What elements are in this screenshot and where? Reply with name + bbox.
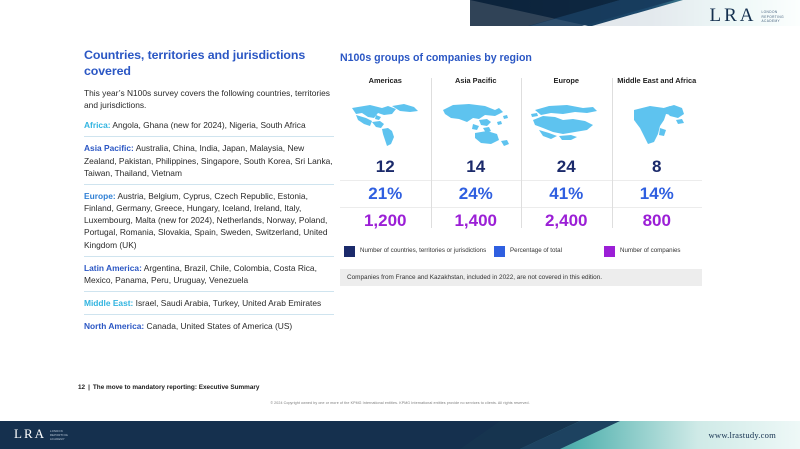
footer-website-url[interactable]: www.lrastudy.com	[709, 430, 776, 440]
region-label: Asia Pacific:	[84, 143, 134, 153]
value-text: 1,400	[431, 210, 522, 233]
header-logo: LRA LONDON REPORTING ACADEMY	[710, 6, 785, 25]
value-text: 21%	[340, 183, 431, 206]
column-header: Americas	[340, 76, 431, 96]
value-count: 12	[340, 154, 431, 180]
legend-label: Number of companies	[620, 247, 681, 255]
region-label: Latin America:	[84, 263, 142, 273]
value-text: 14%	[612, 183, 703, 206]
value-text: 24	[521, 156, 612, 179]
value-text: 24%	[431, 183, 522, 206]
value-companies: 1,200	[340, 207, 431, 234]
value-percentage: 24%	[431, 180, 522, 207]
legend-swatch-blue	[494, 246, 505, 257]
region-countries: Israel, Saudi Arabia, Turkey, United Ara…	[136, 298, 322, 308]
value-percentage: 21%	[340, 180, 431, 207]
region-label: North America:	[84, 321, 144, 331]
legend-item-countries: Number of countries, territories or juri…	[344, 246, 494, 257]
region-block-middle-east: Middle East: Israel, Saudi Arabia, Turke…	[84, 291, 334, 309]
chart-column-americas: Americas 12 21% 1,200	[340, 76, 431, 234]
column-header: Middle East and Africa	[612, 76, 703, 96]
footer-separator: |	[88, 384, 90, 391]
region-block-europe: Europe: Austria, Belgium, Cyprus, Czech …	[84, 184, 334, 251]
region-countries: Canada, United States of America (US)	[147, 321, 293, 331]
value-count: 24	[521, 154, 612, 180]
region-label: Middle East:	[84, 298, 133, 308]
legend-item-percentage: Percentage of total	[494, 246, 604, 257]
footer-document-title: 12|The move to mandatory reporting: Exec…	[78, 384, 259, 391]
header-logo-sub-line-3: ACADEMY	[762, 19, 781, 23]
value-percentage: 14%	[612, 180, 703, 207]
chart-column-asia-pacific: Asia Pacific 14 24% 1,40	[431, 76, 522, 234]
countries-section: Countries, territories and jurisdictions…	[84, 48, 334, 338]
chart-title: N100s groups of companies by region	[340, 52, 702, 64]
chart-column-europe: Europe 24 41% 2,400	[521, 76, 612, 234]
value-companies: 800	[612, 207, 703, 234]
page-title: Countries, territories and jurisdictions…	[84, 48, 334, 80]
intro-text: This year’s N100s survey covers the foll…	[84, 87, 334, 111]
chart-footnote: Companies from France and Kazakhstan, in…	[340, 269, 702, 286]
footer-logo-sub-line-3: ACADEMY	[50, 438, 65, 441]
map-europe-icon	[521, 96, 612, 154]
legend-item-companies: Number of companies	[604, 246, 681, 257]
copyright-text: © 2024 Copyright owned by one or more of…	[0, 401, 800, 405]
page-number: 12	[78, 384, 85, 391]
value-count: 8	[612, 154, 703, 180]
region-label: Europe:	[84, 191, 116, 201]
header-logo-subtitle: LONDON REPORTING ACADEMY	[762, 6, 785, 24]
footer-logo-subtitle: LONDON REPORTING ACADEMY	[50, 427, 68, 442]
value-companies: 2,400	[521, 207, 612, 234]
legend-swatch-navy	[344, 246, 355, 257]
footer-logo-sub-line-1: LONDON	[50, 430, 63, 433]
regions-chart: N100s groups of companies by region Amer…	[340, 52, 702, 286]
region-countries: Austria, Belgium, Cyprus, Czech Republic…	[84, 191, 327, 250]
value-text: 14	[431, 156, 522, 179]
page-header: LRA LONDON REPORTING ACADEMY	[0, 0, 800, 40]
header-logo-text: LRA	[710, 6, 757, 25]
chart-column-middle-east-and-africa: Middle East and Africa 8 14% 800	[612, 76, 703, 234]
region-countries: Angola, Ghana (new for 2024), Nigeria, S…	[112, 120, 305, 130]
column-header: Europe	[521, 76, 612, 96]
chart-columns: Americas 12 21% 1,200 Asia Pacifi	[340, 76, 702, 234]
value-text: 41%	[521, 183, 612, 206]
column-header: Asia Pacific	[431, 76, 522, 96]
value-percentage: 41%	[521, 180, 612, 207]
map-middle-east-africa-icon	[612, 96, 703, 154]
footer-bar: LRA LONDON REPORTING ACADEMY www.lrastud…	[0, 421, 800, 449]
value-text: 1,200	[340, 210, 431, 233]
region-block-africa: Africa: Angola, Ghana (new for 2024), Ni…	[84, 119, 334, 131]
legend-label: Percentage of total	[510, 247, 562, 255]
legend-swatch-purple	[604, 246, 615, 257]
region-block-latin-america: Latin America: Argentina, Brazil, Chile,…	[84, 256, 334, 286]
chart-legend: Number of countries, territories or juri…	[340, 246, 702, 257]
map-asia-pacific-icon	[431, 96, 522, 154]
value-text: 800	[612, 210, 703, 233]
value-count: 14	[431, 154, 522, 180]
value-text: 8	[612, 156, 703, 179]
region-block-north-america: North America: Canada, United States of …	[84, 314, 334, 332]
footer-title-text: The move to mandatory reporting: Executi…	[93, 384, 260, 391]
map-americas-icon	[340, 96, 431, 154]
value-text: 2,400	[521, 210, 612, 233]
footer-logo: LRA LONDON REPORTING ACADEMY	[14, 427, 68, 442]
footer-logo-text: LRA	[14, 427, 46, 440]
region-block-asia-pacific: Asia Pacific: Australia, China, India, J…	[84, 136, 334, 179]
legend-label: Number of countries, territories or juri…	[360, 247, 486, 255]
value-companies: 1,400	[431, 207, 522, 234]
region-label: Africa:	[84, 120, 111, 130]
footer-logo-sub-line-2: REPORTING	[50, 434, 68, 437]
header-logo-sub-line-2: REPORTING	[762, 15, 785, 19]
value-text: 12	[340, 156, 431, 179]
header-logo-sub-line-1: LONDON	[762, 10, 778, 14]
